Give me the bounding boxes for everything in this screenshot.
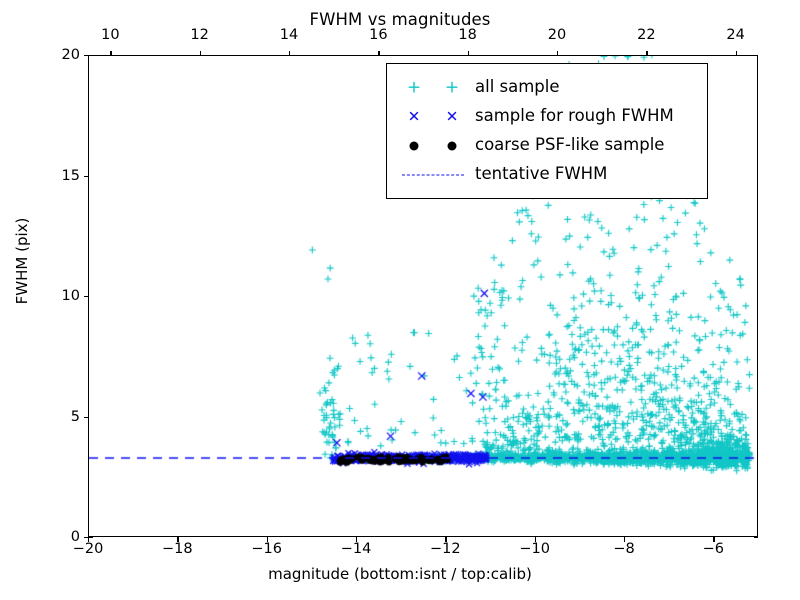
legend-item-all-sample: + + all sample [397, 73, 695, 102]
y-tick-label: 0 [46, 529, 80, 545]
dashed-line-icon [402, 174, 464, 175]
dot-icon [448, 141, 457, 150]
y-tick-label: 15 [46, 168, 80, 184]
legend-marker-tentative-fwhm [397, 164, 475, 186]
legend-marker-coarse-psf [397, 135, 475, 157]
x-tick-label-bottom: −6 [703, 541, 724, 557]
x-tick-label-top: 16 [369, 27, 387, 43]
axis-tick [84, 537, 89, 538]
x-tick-label-top: 24 [726, 27, 744, 43]
y-tick-label: 20 [46, 47, 80, 63]
y-tick-label: 10 [46, 288, 80, 304]
x-tick-label-top: 12 [190, 27, 208, 43]
x-axis-label: magnitude (bottom:isnt / top:calib) [0, 565, 800, 583]
x-tick-label-top: 14 [280, 27, 298, 43]
x-tick-label-top: 22 [637, 27, 655, 43]
x-tick-label-top: 20 [548, 27, 566, 43]
legend-label-rough-fwhm: sample for rough FWHM [475, 108, 674, 125]
legend-item-coarse-psf: coarse PSF-like sample [397, 131, 695, 160]
legend-label-coarse-psf: coarse PSF-like sample [475, 137, 664, 154]
legend-item-tentative-fwhm: tentative FWHM [397, 160, 695, 189]
figure-canvas: FWHM vs magnitudes magnitude (bottom:isn… [0, 0, 800, 600]
axis-tick [754, 537, 759, 538]
x-tick-label-bottom: −18 [162, 541, 193, 557]
dot-icon [410, 141, 419, 150]
y-axis-label: FWHM (pix) [13, 146, 31, 376]
plus-icon: + [445, 79, 459, 96]
x-tick-label-bottom: −8 [613, 541, 634, 557]
legend-marker-all-sample: + + [397, 77, 475, 99]
chart-title: FWHM vs magnitudes [0, 10, 800, 29]
legend-label-all-sample: all sample [475, 79, 560, 96]
y-tick-label: 5 [46, 409, 80, 425]
plus-icon: + [407, 79, 421, 96]
axis-tick [88, 537, 93, 538]
x-tick-label-bottom: −14 [341, 541, 372, 557]
x-tick-label-top: 10 [101, 27, 119, 43]
legend: + + all sample ✕ ✕ sample for rough FWHM… [386, 63, 708, 199]
x-tick-label-bottom: −12 [430, 541, 461, 557]
legend-item-rough-fwhm: ✕ ✕ sample for rough FWHM [397, 102, 695, 131]
cross-icon: ✕ [446, 109, 459, 124]
x-tick-label-top: 18 [458, 27, 476, 43]
cross-icon: ✕ [408, 109, 421, 124]
x-tick-label-bottom: −16 [251, 541, 282, 557]
legend-label-tentative-fwhm: tentative FWHM [475, 166, 607, 183]
x-tick-label-bottom: −10 [519, 541, 550, 557]
legend-marker-rough-fwhm: ✕ ✕ [397, 106, 475, 128]
